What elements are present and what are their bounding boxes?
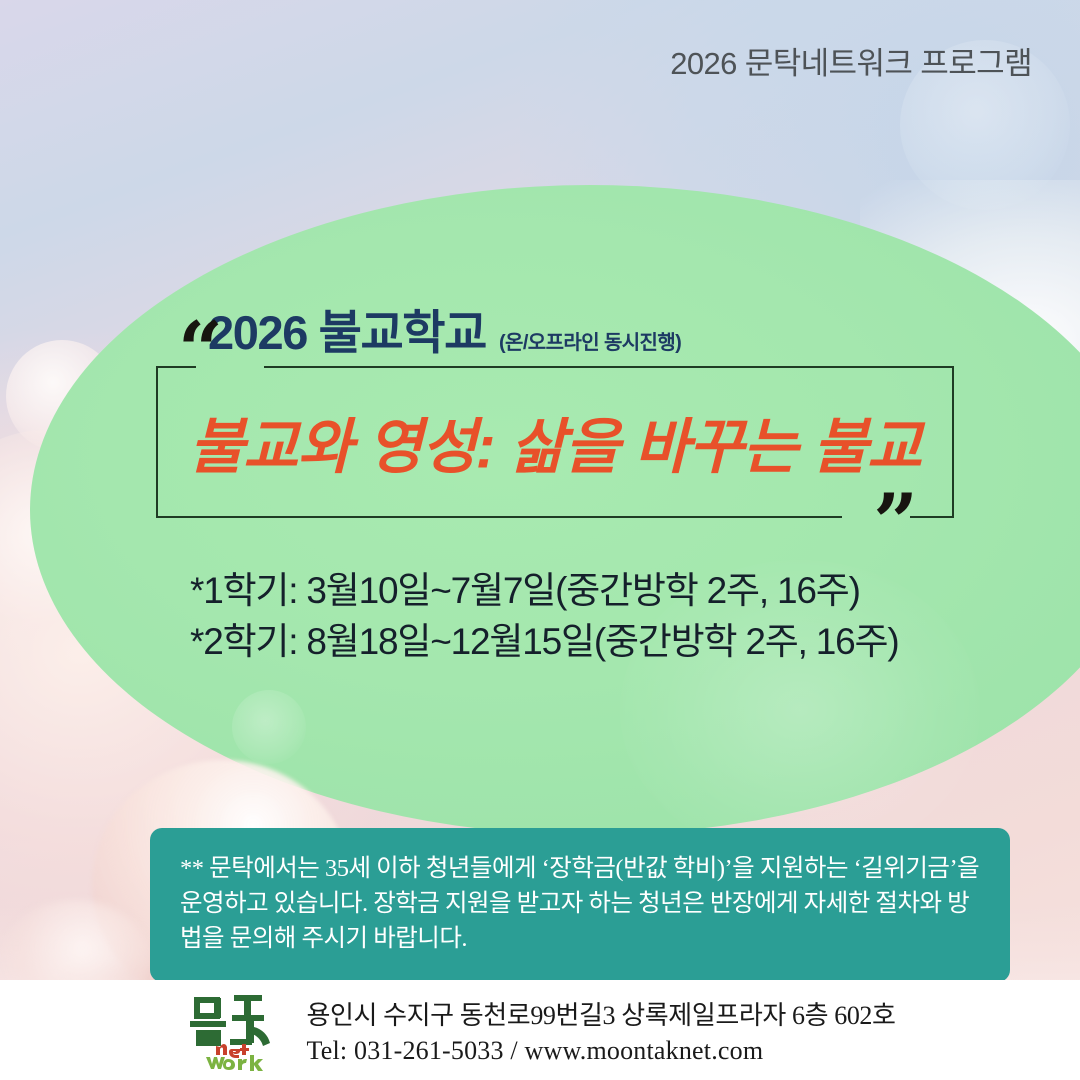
moontak-network-logo: [184, 987, 280, 1073]
program-title-row: 2026 불교학교 (온/오프라인 동시진행): [208, 294, 681, 363]
scholarship-note-text: ** 문탁에서는 35세 이하 청년들에게 ‘장학금(반값 학비)’을 지원하는…: [180, 852, 980, 956]
quote-open-icon: “: [178, 312, 223, 390]
footer-contact-block: 용인시 수지구 동천로99번길3 상록제일프라자 6층 602호 Tel: 03…: [306, 995, 895, 1066]
schedule-line-semester-2: *2학기: 8월18일~12월15일(중간방학 2주, 16주): [190, 616, 990, 667]
frame-border-bottom-main: [156, 516, 842, 518]
schedule-list: *1학기: 3월10일~7월7일(중간방학 2주, 16주) *2학기: 8월1…: [190, 565, 990, 667]
footer-address: 용인시 수지구 동천로99번길3 상록제일프라자 6층 602호: [306, 995, 895, 1032]
headline-quote-frame: “ ” 불교와 영성: 삶을 바꾸는 불교: [156, 366, 954, 518]
footer-contact: Tel: 031-261-5033 / www.moontaknet.com: [306, 1036, 895, 1066]
frame-border-top-main: [264, 366, 954, 368]
quote-close-icon: ”: [873, 484, 918, 562]
main-headline: 불교와 영성: 삶을 바꾸는 불교: [156, 399, 954, 486]
scholarship-note-box: ** 문탁에서는 35세 이하 청년들에게 ‘장학금(반값 학비)’을 지원하는…: [150, 828, 1010, 982]
green-ellipse-highlight-dot: [232, 690, 306, 764]
poster-canvas: 2026 문탁네트워크 프로그램 2026 불교학교 (온/오프라인 동시진행)…: [0, 0, 1080, 1080]
page-title: 2026 문탁네트워크 프로그램: [670, 38, 1032, 83]
program-title: 2026 불교학교: [208, 294, 486, 363]
schedule-line-semester-1: *1학기: 3월10일~7월7일(중간방학 2주, 16주): [190, 565, 990, 616]
program-subtitle: (온/오프라인 동시진행): [499, 326, 681, 355]
footer-bar: 용인시 수지구 동천로99번길3 상록제일프라자 6층 602호 Tel: 03…: [0, 980, 1080, 1080]
